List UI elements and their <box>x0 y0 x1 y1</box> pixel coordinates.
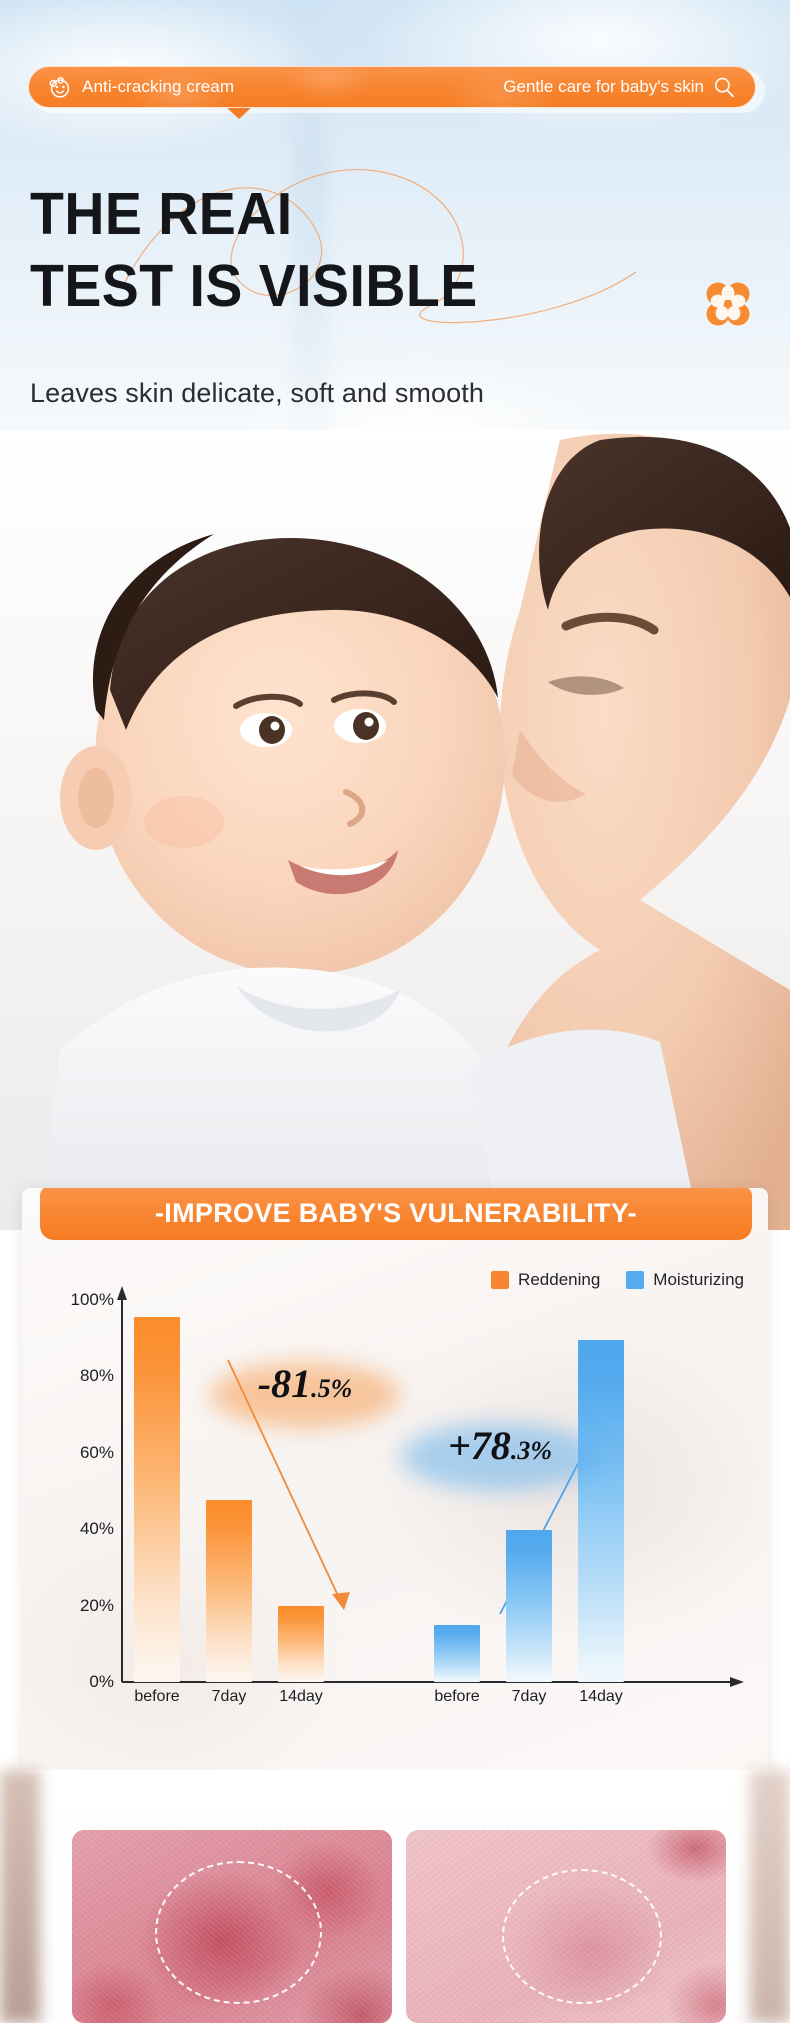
headline-line-1: THE REAI <box>30 178 688 250</box>
x-tick-reddening-14day: 14day <box>279 1688 323 1706</box>
y-tick-100: 100% <box>71 1290 114 1310</box>
x-tick-reddening-7day: 7day <box>212 1688 247 1706</box>
banner-right-label: Gentle care for baby's skin <box>503 77 704 97</box>
top-banner[interactable]: Anti-cracking cream Gentle care for baby… <box>28 66 762 110</box>
bar-moisturizing-7day <box>506 1530 552 1682</box>
product-detail-page: Anti-cracking cream Gentle care for baby… <box>0 0 790 2023</box>
hero-photo <box>0 430 790 1230</box>
chart-card: -IMPROVE BABY'S VULNERABILITY- Reddening… <box>22 1188 768 1788</box>
chart-bars <box>122 1302 742 1682</box>
bar-moisturizing-14day <box>578 1340 624 1682</box>
chart-header: -IMPROVE BABY'S VULNERABILITY- <box>40 1188 752 1240</box>
banner-right-group[interactable]: Gentle care for baby's skin <box>503 76 735 98</box>
annotation-reddening-change: -81 .5% <box>210 1360 400 1430</box>
baby-face-icon <box>47 74 73 100</box>
y-tick-60: 60% <box>80 1443 114 1463</box>
bar-reddening-7day <box>206 1500 252 1682</box>
y-tick-40: 40% <box>80 1519 114 1539</box>
y-axis-tick-labels: 100% 80% 60% 40% 20% 0% <box>52 1300 114 1682</box>
skin-closeup-after-photo <box>406 1830 726 2023</box>
page-title: THE REAI TEST IS VISIBLE <box>30 178 730 322</box>
banner-left-label: Anti-cracking cream <box>82 77 234 97</box>
x-tick-moisturizing-before: before <box>434 1688 479 1706</box>
annotation-reddening-fraction: .5% <box>311 1374 352 1404</box>
bar-reddening-before <box>134 1317 180 1682</box>
bar-reddening-14day <box>278 1606 324 1682</box>
skin-closeup-before-photo <box>72 1830 392 2023</box>
photo-strip-left-edge <box>0 1770 40 2023</box>
annotation-reddening-main: -81 <box>258 1360 311 1407</box>
x-tick-moisturizing-7day: 7day <box>512 1688 547 1706</box>
search-icon[interactable] <box>713 76 735 98</box>
y-tick-80: 80% <box>80 1366 114 1386</box>
y-tick-20: 20% <box>80 1596 114 1616</box>
x-tick-moisturizing-14day: 14day <box>579 1688 623 1706</box>
highlight-ellipse-after <box>502 1869 662 2004</box>
page-subtitle: Leaves skin delicate, soft and smooth <box>30 378 484 409</box>
x-axis-tick-labels: before 7day 14day before 7day 14day <box>122 1688 742 1718</box>
chart-title: -IMPROVE BABY'S VULNERABILITY- <box>155 1198 637 1229</box>
photo-strip-right-edge <box>750 1770 790 2023</box>
comparison-photo-strip <box>0 1770 790 2023</box>
annotation-moisturizing-change: +78 .3% <box>400 1422 600 1492</box>
banner-pill[interactable]: Anti-cracking cream Gentle care for baby… <box>28 66 756 108</box>
highlight-ellipse-before <box>155 1861 321 2004</box>
annotation-moisturizing-main: +78 <box>448 1422 511 1469</box>
x-tick-reddening-before: before <box>134 1688 179 1706</box>
annotation-moisturizing-fraction: .3% <box>511 1436 552 1466</box>
flower-icon <box>700 276 756 332</box>
bar-moisturizing-before <box>434 1625 480 1682</box>
y-tick-0: 0% <box>89 1672 114 1692</box>
bar-chart: Reddening Moisturizing <box>22 1242 768 1788</box>
headline-line-2: TEST IS VISIBLE <box>30 250 688 322</box>
